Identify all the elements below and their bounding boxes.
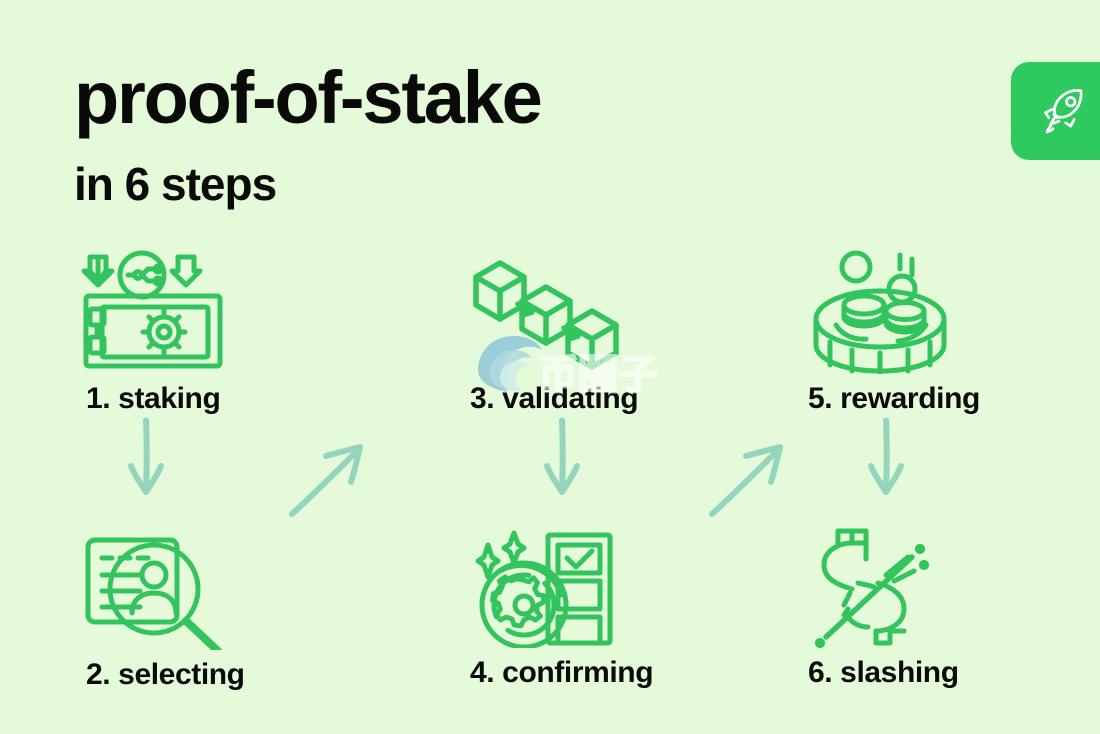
step-validating[interactable]: 3. validating: [470, 244, 700, 416]
vault-safe-icon: [78, 249, 228, 374]
connector-arrow-upright-1: [286, 442, 368, 525]
page-subtitle: in 6 steps: [74, 158, 541, 210]
connector-arrow-upright-2: [706, 442, 788, 525]
step-slashing[interactable]: 6. slashing: [808, 518, 1038, 690]
connector-arrow-down-2: [538, 418, 586, 505]
step-selecting-icon-wrap: [78, 520, 308, 650]
step-confirming[interactable]: 4. confirming: [468, 518, 698, 690]
slashed-dollar-icon: [808, 523, 958, 648]
step-staking-icon-wrap: [78, 244, 308, 374]
linked-blocks-icon: [470, 249, 620, 374]
document-magnifier-person-icon: [78, 525, 230, 650]
step-selecting-label: 2. selecting: [78, 658, 308, 692]
title-block: proof-of-stake in 6 steps: [74, 56, 541, 210]
connector-arrow-down-1: [122, 418, 170, 505]
step-staking-label: 1. staking: [78, 382, 308, 416]
step-slashing-label: 6. slashing: [808, 656, 1038, 690]
coin-stack-platform-icon: [808, 249, 958, 374]
step-validating-icon-wrap: [470, 244, 700, 374]
infographic-canvas: proof-of-stake in 6 steps: [0, 0, 1100, 734]
step-confirming-icon-wrap: [468, 518, 698, 648]
gear-checklist-icon: [468, 523, 618, 648]
rocket-icon: [1037, 84, 1091, 138]
step-rewarding-label: 5. rewarding: [808, 382, 1038, 416]
step-selecting[interactable]: 2. selecting: [78, 520, 308, 692]
step-rewarding-icon-wrap: [808, 244, 1038, 374]
step-confirming-label: 4. confirming: [468, 656, 698, 690]
step-validating-label: 3. validating: [470, 382, 700, 416]
rocket-badge[interactable]: [1011, 62, 1100, 160]
step-rewarding[interactable]: 5. rewarding: [808, 244, 1038, 416]
connector-arrow-down-3: [862, 418, 910, 505]
page-title: proof-of-stake: [74, 56, 541, 140]
step-slashing-icon-wrap: [808, 518, 1038, 648]
step-staking[interactable]: 1. staking: [78, 244, 308, 416]
